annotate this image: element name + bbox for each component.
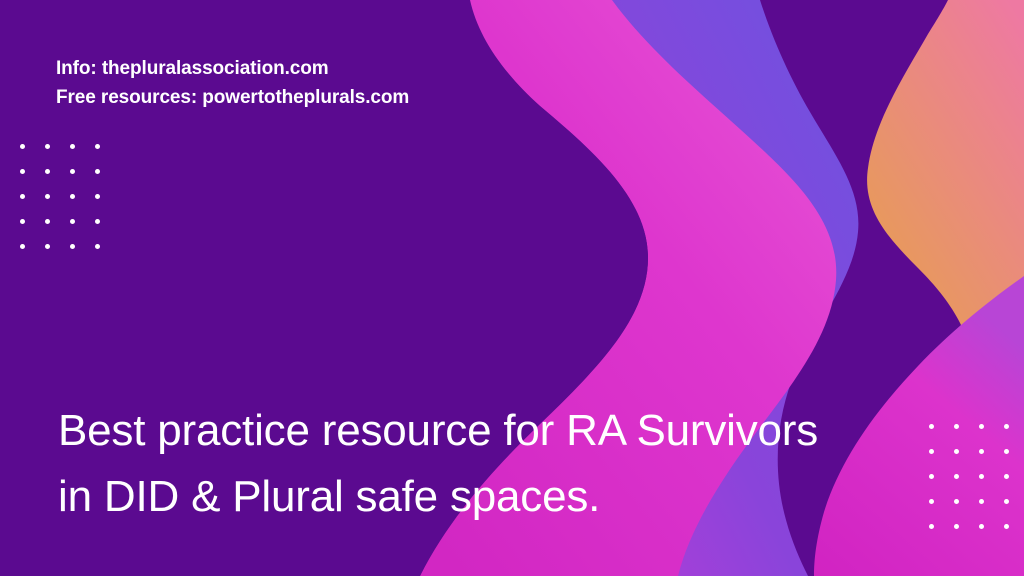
dot (1004, 499, 1009, 504)
dot (20, 169, 25, 174)
dot (70, 169, 75, 174)
headline: Best practice resource for RA Survivors … (58, 398, 888, 530)
dot (954, 424, 959, 429)
dot (954, 524, 959, 529)
dot (1004, 474, 1009, 479)
dot (45, 144, 50, 149)
dot (45, 219, 50, 224)
dot (954, 449, 959, 454)
dot (979, 499, 984, 504)
dot (95, 244, 100, 249)
dot (95, 144, 100, 149)
dot-grid-left (20, 144, 120, 269)
dot (95, 169, 100, 174)
header-line-resources: Free resources: powertotheplurals.com (56, 83, 409, 112)
dot (95, 219, 100, 224)
dot (979, 474, 984, 479)
dot (1004, 524, 1009, 529)
headline-line-1: Best practice resource for RA Survivors (58, 398, 888, 464)
dot (20, 144, 25, 149)
header-contact-info: Info: thepluralassociation.com Free reso… (56, 54, 409, 112)
header-line-info: Info: thepluralassociation.com (56, 54, 409, 83)
dot (979, 524, 984, 529)
dot (70, 219, 75, 224)
dot (70, 144, 75, 149)
dot (929, 424, 934, 429)
dot (70, 194, 75, 199)
dot (95, 194, 100, 199)
dot (929, 474, 934, 479)
dot (929, 449, 934, 454)
dot (979, 424, 984, 429)
dot-grid-right (929, 424, 1024, 549)
dot (954, 499, 959, 504)
dot (1004, 449, 1009, 454)
dot (45, 194, 50, 199)
dot (45, 244, 50, 249)
dot (929, 499, 934, 504)
dot (70, 244, 75, 249)
dot (45, 169, 50, 174)
dot (20, 194, 25, 199)
dot (929, 524, 934, 529)
headline-line-2: in DID & Plural safe spaces. (58, 464, 888, 530)
dot (20, 219, 25, 224)
slide-canvas: Info: thepluralassociation.com Free reso… (0, 0, 1024, 576)
dot (20, 244, 25, 249)
dot (979, 449, 984, 454)
dot (954, 474, 959, 479)
dot (1004, 424, 1009, 429)
